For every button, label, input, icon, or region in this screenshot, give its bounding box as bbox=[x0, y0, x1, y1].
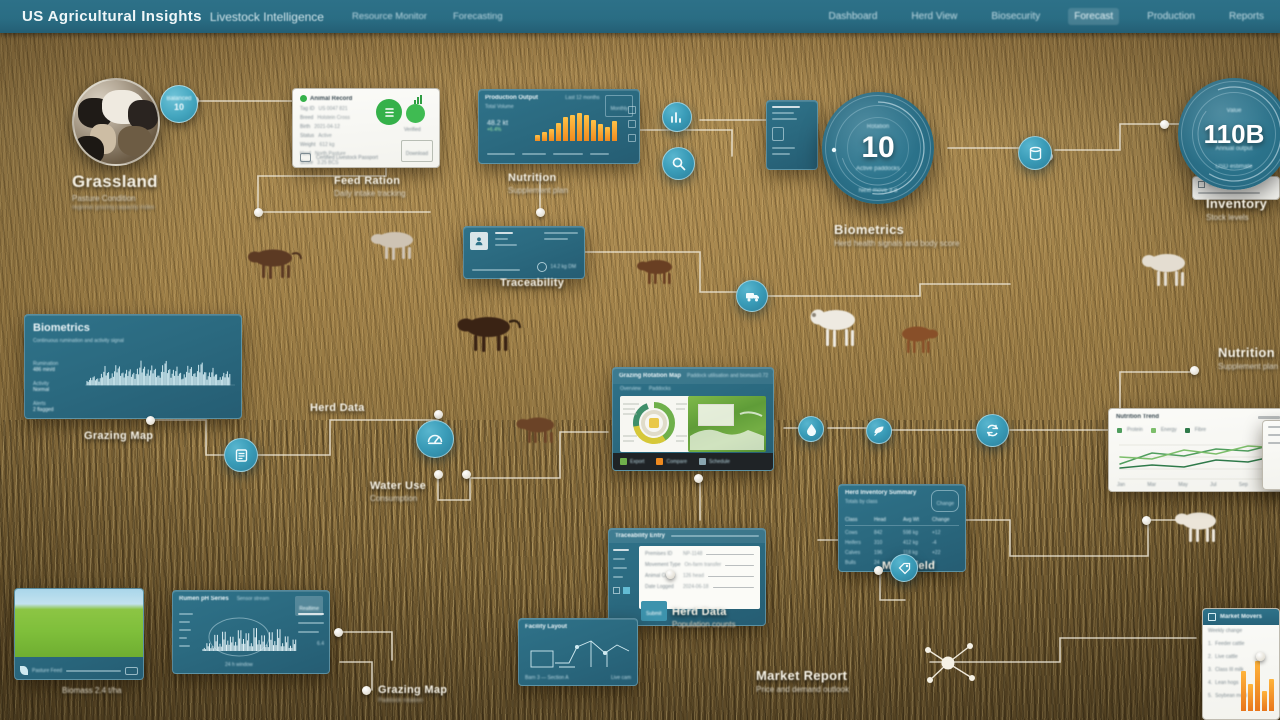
label-sub: Herd health signals and body score bbox=[834, 239, 959, 248]
record-field: Birth2021-04-12 bbox=[300, 124, 368, 130]
form-field-label: Movement Type bbox=[645, 562, 680, 568]
table-cell: +12 bbox=[932, 530, 959, 536]
record-field: BreedHolstein Cross bbox=[300, 115, 368, 121]
waveform-chart bbox=[85, 343, 235, 405]
label-sub: Consumption bbox=[370, 494, 426, 503]
cattle-figure bbox=[512, 413, 564, 450]
node-tag-icon[interactable] bbox=[890, 554, 918, 582]
paddock-donut-chart bbox=[620, 396, 690, 452]
gauge-footer: Next move 3 d bbox=[859, 188, 898, 194]
paddock-outline bbox=[688, 396, 766, 452]
export-icon[interactable] bbox=[628, 134, 636, 142]
label-heading: Market Report bbox=[756, 668, 849, 683]
panel-title: Production Output bbox=[485, 95, 538, 101]
wire-dot bbox=[874, 566, 883, 575]
field-label-nutrition-top: Nutrition Supplement plan bbox=[508, 172, 568, 195]
label-sub: Daily intake tracking bbox=[334, 189, 406, 198]
form-field[interactable]: Premises IDNP-1148 bbox=[645, 551, 754, 557]
x-tick: Jan bbox=[1117, 482, 1125, 488]
pasture-photo-card[interactable]: Pasture Feed bbox=[14, 588, 144, 680]
right-controls[interactable]: 6.4 bbox=[298, 613, 324, 647]
hub-node-cluster[interactable] bbox=[910, 632, 986, 694]
form-sidebar[interactable] bbox=[609, 543, 637, 625]
bar bbox=[1262, 691, 1267, 711]
node-gauge-icon[interactable] bbox=[416, 420, 454, 458]
label-sub: Pasture Condition bbox=[72, 194, 158, 203]
gauge-label-top: Value bbox=[1227, 108, 1242, 114]
bar bbox=[542, 132, 547, 141]
chart-mini-icon bbox=[414, 95, 422, 104]
field-label-herd-data: Herd Data bbox=[310, 402, 365, 414]
traceability-mini-card[interactable]: 14.2 kg DM bbox=[463, 226, 585, 279]
panel-title: Facility Layout bbox=[525, 624, 631, 630]
value-gauge[interactable]: Value 110B Annual output USD estimate bbox=[1178, 78, 1280, 190]
panel-title: Grazing Rotation Map bbox=[619, 373, 681, 379]
card-title: Animal Record bbox=[310, 96, 352, 102]
nav-item-herd-view[interactable]: Herd View bbox=[905, 8, 963, 25]
cattle-figure bbox=[633, 256, 681, 291]
sheep-figure bbox=[1137, 250, 1195, 293]
bar bbox=[556, 123, 561, 141]
action-icon bbox=[620, 458, 627, 465]
x-axis-label: 24 h window bbox=[225, 662, 253, 668]
action-icon bbox=[656, 458, 663, 465]
field-label: Birth bbox=[300, 124, 310, 130]
bar bbox=[563, 117, 568, 141]
field-label-grassland: Grassland Pasture Condition regional gra… bbox=[72, 172, 158, 211]
table-row[interactable]: Heifers310412 kg-4 bbox=[845, 540, 959, 546]
row-index: 3. bbox=[1208, 667, 1212, 673]
label-heading: Feed Ration bbox=[334, 175, 406, 187]
app-brand-title: US Agricultural Insights bbox=[22, 8, 202, 25]
field-value: 612 kg bbox=[319, 142, 334, 148]
field-label: Status bbox=[300, 133, 314, 139]
row-index: 1. bbox=[1208, 641, 1212, 647]
field-underline bbox=[708, 576, 754, 577]
row-index: 4. bbox=[1208, 680, 1212, 686]
table-header-row: ClassHeadAvg WtChange bbox=[845, 517, 959, 526]
field-label-traceability: Traceability bbox=[500, 277, 564, 289]
form-field-value: 126 head bbox=[683, 573, 704, 579]
action-icon bbox=[699, 458, 706, 465]
legend-swatch bbox=[1185, 428, 1190, 433]
nutrition-line-chart bbox=[1115, 435, 1280, 483]
play-button[interactable] bbox=[125, 667, 138, 675]
bar bbox=[591, 120, 596, 141]
label-heading: Herd Data bbox=[672, 606, 736, 618]
market-bar-chart bbox=[1241, 655, 1274, 711]
field-label-market-bottom-left: Biomass 2.4 t/ha bbox=[62, 684, 122, 695]
legend-swatch bbox=[1151, 428, 1156, 433]
label-heading: Traceability bbox=[500, 277, 564, 289]
rumen-signal-chart bbox=[199, 611, 301, 663]
market-movers-card[interactable]: Market Movers Weekly change 1.Feeder cat… bbox=[1202, 608, 1280, 720]
market-row-list: 1.Feeder cattle2.Live cattle3.Class III … bbox=[1208, 641, 1242, 706]
gauge-caption: Active paddocks bbox=[856, 166, 900, 172]
market-row[interactable]: 2.Live cattle bbox=[1208, 654, 1242, 660]
nutrition-trend-card[interactable]: Nutrition Trend ProteinEnergyFibre JanMa… bbox=[1108, 408, 1280, 492]
wire-dot bbox=[334, 628, 343, 637]
card-footer-right: Live cam bbox=[611, 675, 631, 681]
node-database-icon[interactable] bbox=[1018, 136, 1052, 170]
grid-icon[interactable] bbox=[613, 587, 620, 594]
label-heading: Nutrition bbox=[1218, 345, 1278, 360]
cow-shape bbox=[118, 126, 152, 156]
right-nav-items[interactable]: DashboardHerd ViewBiosecurityForecastPro… bbox=[822, 8, 1270, 25]
facility-blueprint bbox=[529, 633, 633, 675]
grazing-map-dashboard[interactable]: Grazing Rotation Map Paddock utilisation… bbox=[612, 367, 774, 471]
bar bbox=[605, 127, 610, 141]
label-sub: Price and demand outlook bbox=[756, 685, 849, 694]
app-brand-subtitle: Livestock Intelligence bbox=[210, 10, 324, 24]
action-label: Schedule bbox=[709, 459, 730, 465]
footer-action[interactable]: Schedule bbox=[699, 458, 730, 465]
label-sub: Supplement plan bbox=[1218, 362, 1278, 371]
download-label: Download bbox=[406, 151, 428, 157]
nav-item-forecast[interactable]: Forecast bbox=[1068, 8, 1119, 25]
row-label: Lean hogs bbox=[1215, 680, 1238, 686]
plus-icon[interactable] bbox=[623, 587, 630, 594]
form-field-value: On-farm transfer bbox=[684, 562, 721, 568]
metric-delta: +6.4% bbox=[487, 127, 508, 133]
form-field[interactable]: Date Logged2024-06-18 bbox=[645, 584, 754, 590]
bar bbox=[535, 135, 540, 141]
node-leaf-icon[interactable] bbox=[866, 418, 892, 444]
field-label-water-use: Water Use Consumption bbox=[370, 480, 426, 503]
panel-metric-label: Total Volume bbox=[485, 104, 538, 110]
panel-title: Biometrics bbox=[33, 322, 233, 334]
field-label-biometrics: Biometrics Herd health signals and body … bbox=[834, 222, 959, 248]
bar bbox=[1269, 679, 1274, 711]
sheep-figure bbox=[1170, 508, 1226, 549]
row-label: Feeder cattle bbox=[1215, 641, 1244, 647]
facility-layout-card[interactable]: Facility Layout Barn 3 — Section A Live … bbox=[518, 618, 638, 686]
field-label: Tag ID bbox=[300, 106, 314, 112]
bar bbox=[577, 113, 582, 141]
card-subtitle: Weekly change bbox=[1203, 625, 1279, 634]
legend-label: Energy bbox=[1161, 427, 1177, 433]
wire-dot bbox=[462, 470, 471, 479]
card-badge-label: Verified bbox=[404, 127, 421, 133]
y-axis-ticks bbox=[179, 613, 193, 647]
wire-dot bbox=[362, 686, 371, 695]
form-field-label: Premises ID bbox=[645, 551, 679, 557]
market-row[interactable]: 3.Class III milk bbox=[1208, 667, 1242, 673]
list-icon[interactable] bbox=[628, 120, 636, 128]
label-sub2: regional grazing capacity index bbox=[72, 205, 158, 211]
label-sub: Population counts bbox=[672, 620, 736, 629]
herd-count-badge[interactable]: Balanced 10 bbox=[160, 85, 198, 123]
label-heading: Grazing Map bbox=[378, 684, 447, 696]
bar bbox=[598, 124, 603, 141]
wire-dot bbox=[1256, 652, 1265, 661]
table-column-header: Avg Wt bbox=[903, 517, 930, 523]
bar bbox=[549, 129, 554, 141]
nav-item-reports[interactable]: Reports bbox=[1223, 8, 1270, 25]
wire-dot bbox=[434, 470, 443, 479]
nav-item-dashboard[interactable]: Dashboard bbox=[822, 8, 883, 25]
gauge-value: 10 bbox=[861, 131, 894, 165]
top-navigation-bar[interactable]: US Agricultural Insights Livestock Intel… bbox=[0, 0, 1280, 33]
rumen-signal-panel[interactable]: Rumen pH Series Sensor stream Realtime 6… bbox=[172, 590, 330, 674]
legend-label: Protein bbox=[1127, 427, 1143, 433]
legend-entry: Protein bbox=[1117, 427, 1143, 433]
wire-dot bbox=[254, 208, 263, 217]
panel-title: Traceability Entry bbox=[615, 533, 665, 539]
metric-value: 2 flagged bbox=[33, 407, 117, 413]
label-heading: Water Use bbox=[370, 480, 426, 492]
sprout-circle-icon bbox=[406, 104, 425, 123]
production-output-panel[interactable]: Production Output Total Volume Last 12 m… bbox=[478, 89, 640, 164]
action-label: Compare bbox=[666, 459, 687, 465]
node-drop-icon[interactable] bbox=[798, 416, 824, 442]
monitor-icon bbox=[300, 153, 311, 162]
bar bbox=[612, 121, 617, 141]
market-row[interactable]: 5.Soybean meal bbox=[1208, 693, 1242, 699]
ndvi-value: 0.72 bbox=[758, 373, 768, 379]
form-body[interactable]: Premises IDNP-1148Movement TypeOn-farm t… bbox=[639, 546, 760, 609]
field-label-market-report: Market Report Price and demand outlook bbox=[756, 668, 849, 694]
wire-dot bbox=[536, 208, 545, 217]
mini-card-value: 14.2 kg DM bbox=[550, 264, 576, 270]
side-metrics-card[interactable] bbox=[1262, 420, 1280, 490]
production-bar-chart bbox=[535, 109, 617, 141]
card-title: Market Movers bbox=[1220, 614, 1262, 620]
panel-sidebar-icons[interactable] bbox=[628, 106, 636, 142]
card-footer-label: Certified Livestock Passport bbox=[316, 155, 378, 161]
record-field: Tag IDUS 0047 821 bbox=[300, 106, 368, 112]
filter-chip[interactable]: Change bbox=[931, 490, 959, 512]
legend-label: Fibre bbox=[1195, 427, 1206, 433]
nav-item-biosecurity[interactable]: Biosecurity bbox=[985, 8, 1046, 25]
filter-label: Change bbox=[936, 501, 954, 507]
card-footer: Barn 3 — Section A bbox=[525, 675, 569, 681]
wire-dot bbox=[666, 570, 675, 579]
gauge-label-top: Rotation bbox=[867, 124, 889, 130]
field-label-grazing-bottom: Grazing Map Paddock rotation bbox=[378, 684, 447, 704]
label-heading: Grassland bbox=[72, 172, 158, 192]
label-sub: Supplement plan bbox=[508, 186, 568, 195]
wire-dot bbox=[1142, 516, 1151, 525]
table-cell: Cows bbox=[845, 530, 872, 536]
field-underline bbox=[725, 565, 754, 566]
dashboard-tabs[interactable]: OverviewPaddocks bbox=[613, 384, 773, 393]
table-cell: 310 bbox=[874, 540, 901, 546]
biometrics-waveform-panel[interactable]: Biometrics Continuous rumination and act… bbox=[24, 314, 242, 419]
node-chart-icon[interactable] bbox=[662, 102, 692, 132]
form-field[interactable]: Animal Count126 head bbox=[645, 573, 754, 579]
field-value: US 0047 821 bbox=[318, 106, 347, 112]
label-heading: Grazing Map bbox=[84, 430, 153, 442]
table-cell: Calves bbox=[845, 550, 872, 556]
table-cell: 598 kg bbox=[903, 530, 930, 536]
table-cell: -4 bbox=[932, 540, 959, 546]
form-field-label: Date Logged bbox=[645, 584, 679, 590]
x-tick: May bbox=[1178, 482, 1187, 488]
cattle-figure bbox=[452, 312, 524, 359]
table-cell: 842 bbox=[874, 530, 901, 536]
footer-action[interactable]: Compare bbox=[656, 458, 687, 465]
table-row[interactable]: Cows842598 kg+12 bbox=[845, 530, 959, 536]
grid-icon[interactable] bbox=[628, 106, 636, 114]
action-label: Export bbox=[630, 459, 644, 465]
row-label: Live cattle bbox=[1215, 654, 1238, 660]
cattle-figure bbox=[893, 322, 941, 359]
market-row[interactable]: 1.Feeder cattle bbox=[1208, 641, 1242, 647]
bar bbox=[1241, 671, 1246, 711]
field-value: Active bbox=[318, 133, 332, 139]
leaf-icon bbox=[20, 666, 28, 675]
nav-item-production[interactable]: Production bbox=[1141, 8, 1201, 25]
badge-value: 10 bbox=[174, 102, 184, 112]
form-field[interactable]: Movement TypeOn-farm transfer bbox=[645, 562, 754, 568]
submit-button[interactable]: Submit bbox=[641, 601, 667, 621]
table-column-header: Class bbox=[845, 517, 872, 523]
badge-label: Realtime bbox=[299, 606, 319, 612]
field-label-inventory: Inventory Stock levels bbox=[1206, 196, 1267, 222]
field-underline bbox=[706, 554, 754, 555]
market-row[interactable]: 4.Lean hogs bbox=[1208, 680, 1242, 686]
x-tick: Jul bbox=[1210, 482, 1216, 488]
clipboard-icon bbox=[772, 127, 784, 141]
bar bbox=[1248, 684, 1253, 711]
record-field: StatusActive bbox=[300, 133, 368, 139]
cattle-figure bbox=[243, 245, 305, 286]
panel-range-label: Last 12 months bbox=[565, 95, 599, 101]
legend-entry: Fibre bbox=[1185, 427, 1206, 433]
table-cell: Bulls bbox=[845, 560, 872, 566]
row-index: 5. bbox=[1208, 693, 1212, 699]
signal-value: 6.4 bbox=[298, 641, 324, 647]
trace-field-list: Premises IDNP-1148Movement TypeOn-farm t… bbox=[645, 551, 754, 590]
satellite-aerial-image[interactable] bbox=[688, 396, 766, 452]
x-tick: Sep bbox=[1239, 482, 1248, 488]
table-cell: 0 bbox=[932, 560, 959, 566]
wire-dot bbox=[1160, 120, 1169, 129]
table-cell: +22 bbox=[932, 550, 959, 556]
tag-icon bbox=[470, 232, 488, 250]
left-nav-item[interactable]: Resource Monitor bbox=[352, 11, 427, 22]
row-label: Class III milk bbox=[1215, 667, 1243, 673]
gauge-caption: Annual output bbox=[1215, 146, 1252, 152]
herd-photo-thumbnail[interactable] bbox=[72, 78, 160, 166]
animal-record-card[interactable]: Animal Record Tag IDUS 0047 821BreedHols… bbox=[292, 88, 440, 168]
photo-caption: Pasture Feed bbox=[32, 668, 62, 674]
field-label: Breed bbox=[300, 115, 313, 121]
label-heading: Biometrics bbox=[834, 222, 959, 237]
x-tick: Mar bbox=[1147, 482, 1156, 488]
rotation-gauge[interactable]: Rotation 10 Active paddocks Next move 3 … bbox=[822, 92, 934, 204]
wire-dot bbox=[146, 416, 155, 425]
node-scan-icon[interactable] bbox=[662, 147, 695, 180]
sheep-figure bbox=[805, 305, 865, 354]
tab-overview[interactable]: Overview bbox=[620, 386, 641, 392]
record-field: Weight612 kg bbox=[300, 142, 368, 148]
cow-shape bbox=[74, 136, 104, 164]
download-button[interactable]: Download bbox=[401, 140, 433, 162]
card-title: Nutrition Trend bbox=[1116, 414, 1159, 420]
panel-subtitle: Paddock utilisation and biomass bbox=[687, 373, 758, 379]
table-cell: Heifers bbox=[845, 540, 872, 546]
node-truck-icon[interactable] bbox=[736, 280, 768, 312]
cattle-figure bbox=[366, 228, 426, 267]
node-clipboard-icon[interactable] bbox=[224, 438, 258, 472]
bar bbox=[1255, 661, 1260, 711]
tab-paddocks[interactable]: Paddocks bbox=[649, 386, 671, 392]
gauge-value: 110B bbox=[1204, 119, 1265, 150]
form-field-value: 2024-06-18 bbox=[683, 584, 709, 590]
field-label-herd-data-bottom: Herd Data Population counts bbox=[672, 606, 736, 629]
field-underline bbox=[713, 587, 754, 588]
field-label: Weight bbox=[300, 142, 315, 148]
bar bbox=[584, 115, 589, 141]
label-heading: Herd Data bbox=[310, 402, 365, 414]
field-value: 2021-04-12 bbox=[314, 124, 340, 130]
label-heading: Inventory bbox=[1206, 196, 1267, 211]
trend-legend: ProteinEnergyFibre bbox=[1117, 427, 1206, 433]
dashboard-footer-actions[interactable]: ExportCompareSchedule bbox=[613, 453, 773, 470]
panel-subtitle: Totals by class bbox=[845, 499, 916, 505]
table-column-header: Head bbox=[874, 517, 901, 523]
trend-x-axis: JanMarMayJulSepNov bbox=[1117, 482, 1279, 488]
canvas: Balanced 10 Grassland Pasture Condition … bbox=[0, 0, 1280, 720]
leaf-circle-icon bbox=[300, 95, 307, 102]
pasture-photo bbox=[15, 589, 143, 657]
wire-dot bbox=[1190, 366, 1199, 375]
left-nav-item[interactable]: Forecasting bbox=[453, 11, 503, 22]
sync-icon[interactable] bbox=[537, 262, 547, 272]
label-heading: Nutrition bbox=[508, 172, 568, 184]
left-nav-items[interactable]: Resource MonitorForecasting bbox=[352, 11, 503, 22]
ndvi-label: NDVI bbox=[773, 373, 774, 379]
metric-value: 48.2 kt bbox=[487, 120, 508, 127]
field-label-grazing-map: Grazing Map bbox=[84, 430, 153, 442]
panel-title: Herd Inventory Summary bbox=[845, 490, 916, 496]
wire-dot bbox=[694, 474, 703, 483]
legend-entry: Energy bbox=[1151, 427, 1177, 433]
table-column-header: Change bbox=[932, 517, 959, 523]
label-sub: Paddock rotation bbox=[378, 698, 447, 704]
label-sub: Biomass 2.4 t/ha bbox=[62, 686, 122, 695]
form-field-value: NP-1148 bbox=[683, 551, 702, 557]
gauge-footer: USD estimate bbox=[1215, 164, 1252, 170]
leaf-circle-icon bbox=[376, 99, 402, 125]
bar bbox=[570, 115, 575, 141]
footer-action[interactable]: Export bbox=[620, 458, 644, 465]
table-cell: 412 kg bbox=[903, 540, 930, 546]
submit-label: Submit bbox=[646, 611, 662, 617]
field-label-nutrition-right: Nutrition Supplement plan bbox=[1218, 345, 1278, 371]
chart-icon bbox=[1208, 613, 1216, 621]
row-index: 2. bbox=[1208, 654, 1212, 660]
field-label-feed-ration: Feed Ration Daily intake tracking bbox=[334, 175, 406, 198]
mini-device-card[interactable] bbox=[766, 100, 818, 170]
legend-swatch bbox=[1117, 428, 1122, 433]
label-sub: Stock levels bbox=[1206, 213, 1267, 222]
field-value: Holstein Cross bbox=[317, 115, 350, 121]
wire-dot bbox=[434, 410, 443, 419]
node-sync-icon[interactable] bbox=[976, 414, 1009, 447]
